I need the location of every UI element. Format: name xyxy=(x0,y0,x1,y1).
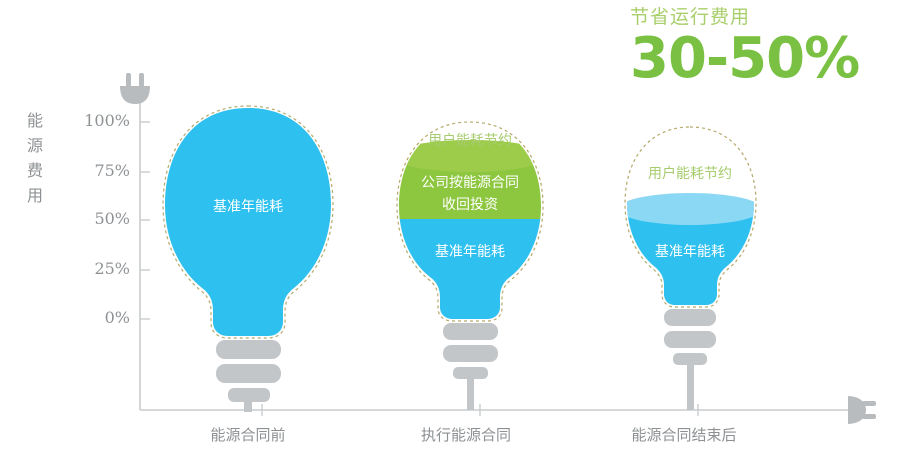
x-axis-label-before-contract: 能源合同前 xyxy=(148,424,348,445)
bulb-before-contract xyxy=(150,100,350,412)
y-tick-label-75: 75% xyxy=(72,161,130,180)
bulb-during-contract xyxy=(385,122,560,410)
x-axis-label-during-contract: 执行能源合同 xyxy=(366,424,566,445)
bulb-2-fill xyxy=(385,140,560,338)
y-tick-label-100: 100% xyxy=(72,111,130,130)
y-tick-label-25: 25% xyxy=(72,259,130,278)
y-axis-title-char-3: 费 xyxy=(24,158,46,183)
headline-block: 节省运行费用 30-50% xyxy=(630,4,890,88)
bulb-3-base xyxy=(664,309,716,410)
plug-icon xyxy=(120,73,150,104)
bulb-after-contract xyxy=(615,127,775,410)
bulb-2-base xyxy=(443,323,498,410)
infographic-canvas: 节省运行费用 30-50% 能 源 费 用 100% 75% 50% 25% 0… xyxy=(0,0,900,473)
socket-icon xyxy=(848,396,876,424)
bulb-1-fill xyxy=(150,100,350,345)
bulb-1-base xyxy=(216,340,281,412)
bulb-3-fill xyxy=(615,193,775,318)
y-axis-title-char-4: 用 xyxy=(24,183,46,208)
y-tick-label-0: 0% xyxy=(72,308,130,327)
x-axis-label-after-contract: 能源合同结束后 xyxy=(584,424,784,445)
y-axis-title: 能 源 费 用 xyxy=(24,108,46,208)
headline-value: 30-50% xyxy=(630,30,890,88)
y-tick-label-50: 50% xyxy=(72,209,130,228)
y-axis-title-char-1: 能 xyxy=(24,108,46,133)
y-axis-title-char-2: 源 xyxy=(24,133,46,158)
